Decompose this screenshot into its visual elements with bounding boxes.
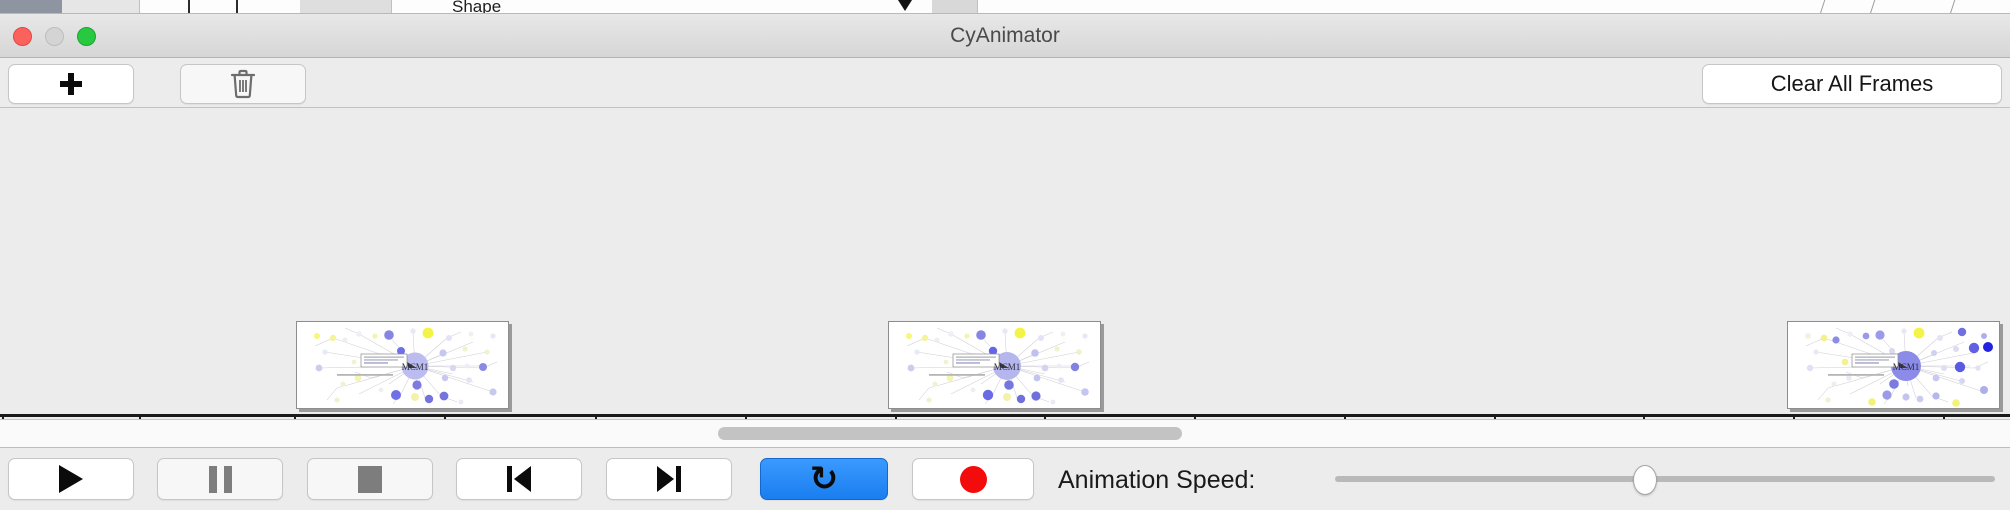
loop-button[interactable]: ↻ xyxy=(760,458,888,500)
slider-track xyxy=(1335,476,1995,482)
plus-icon xyxy=(60,73,82,95)
window-controls xyxy=(13,27,96,46)
background-window-segment xyxy=(932,0,978,14)
network-graph-preview: MCM1 xyxy=(297,322,509,409)
network-graph-preview: MCM1 xyxy=(1788,322,2000,409)
play-button[interactable] xyxy=(8,458,134,500)
skip-end-icon xyxy=(656,466,682,492)
playback-toolbar: ↻ Animation Speed: xyxy=(0,449,2010,510)
animation-speed-label: Animation Speed: xyxy=(1058,466,1255,495)
background-window-divider xyxy=(236,0,238,14)
timeline-axis xyxy=(0,414,2010,417)
pause-icon xyxy=(209,466,232,493)
timeline-panel[interactable]: MCM1 xyxy=(0,109,2010,420)
skip-end-button[interactable] xyxy=(606,458,732,500)
cyanimator-window: Shape CyAnimator Clear All Frames xyxy=(0,0,2010,510)
svg-text:MCM1: MCM1 xyxy=(1893,362,1920,372)
minimize-window-button[interactable] xyxy=(45,27,64,46)
keyframe-thumbnail-3[interactable]: MCM1 xyxy=(1787,321,2000,409)
trash-icon xyxy=(230,69,256,99)
svg-text:MCM1: MCM1 xyxy=(402,362,429,372)
title-bar: CyAnimator xyxy=(0,14,2010,58)
loop-icon: ↻ xyxy=(810,462,839,496)
play-icon xyxy=(59,465,83,493)
slider-thumb[interactable] xyxy=(1633,465,1657,495)
background-window-tab xyxy=(0,0,62,14)
clear-all-frames-button[interactable]: Clear All Frames xyxy=(1702,64,2002,104)
timeline-scrollbar[interactable] xyxy=(0,420,2010,448)
background-window-divider xyxy=(1950,0,1956,14)
background-window-divider xyxy=(1870,0,1876,14)
keyframe-thumbnail-1[interactable]: MCM1 xyxy=(296,321,509,409)
skip-start-icon xyxy=(506,466,532,492)
maximize-window-button[interactable] xyxy=(77,27,96,46)
background-window-segment xyxy=(300,0,392,14)
animation-speed-slider[interactable] xyxy=(1335,458,1995,500)
background-window-strip: Shape xyxy=(0,0,2010,14)
timeline-scrollbar-thumb[interactable] xyxy=(718,427,1182,440)
background-window-divider xyxy=(188,0,190,14)
svg-text:MCM1: MCM1 xyxy=(994,362,1021,372)
background-window-divider xyxy=(1820,0,1826,14)
background-window-label: Shape xyxy=(452,0,501,14)
pause-button[interactable] xyxy=(157,458,283,500)
network-graph-preview: MCM1 xyxy=(889,322,1101,409)
add-frame-button[interactable] xyxy=(8,64,134,104)
record-icon xyxy=(960,466,987,493)
background-window-pointer xyxy=(898,0,912,11)
toolbar: Clear All Frames xyxy=(0,58,2010,108)
record-button[interactable] xyxy=(912,458,1034,500)
delete-frame-button[interactable] xyxy=(180,64,306,104)
window-title: CyAnimator xyxy=(0,14,2010,58)
close-window-button[interactable] xyxy=(13,27,32,46)
skip-start-button[interactable] xyxy=(456,458,582,500)
stop-icon xyxy=(358,466,382,493)
keyframe-thumbnail-2[interactable]: MCM1 xyxy=(888,321,1101,409)
background-window-segment xyxy=(62,0,140,14)
stop-button[interactable] xyxy=(307,458,433,500)
